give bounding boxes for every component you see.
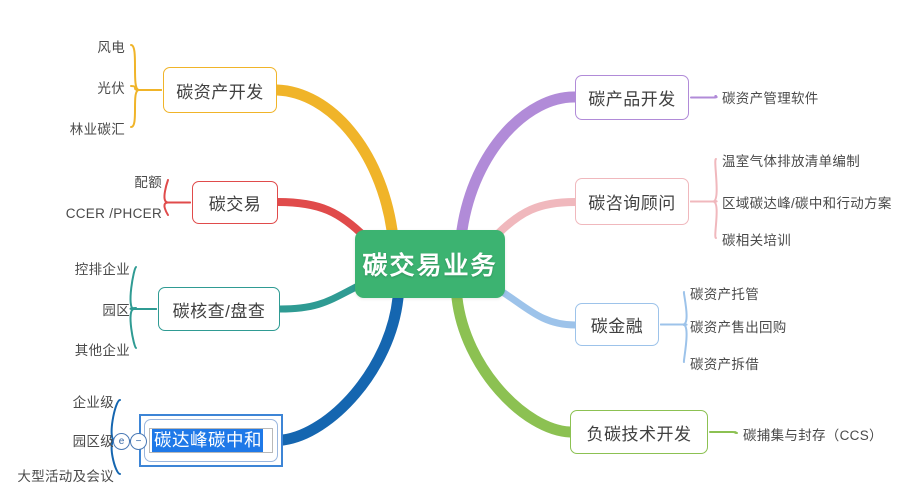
link-carbon-finance-leaf-0 bbox=[661, 292, 687, 325]
branch-node-carbon-product-development[interactable]: 碳产品开发 bbox=[575, 75, 689, 120]
node-title-input[interactable]: 碳达峰碳中和 bbox=[149, 428, 273, 453]
leaf-node[interactable]: 配额 bbox=[0, 171, 162, 191]
branch-node-label: 碳资产开发 bbox=[176, 78, 264, 103]
link-carbon-finance-leaf-2 bbox=[661, 325, 687, 363]
leaf-node[interactable]: 碳资产拆借 bbox=[690, 353, 759, 373]
link-root-to-carbon-peak-neutrality bbox=[283, 298, 398, 440]
leaf-node[interactable]: 企业级 bbox=[0, 391, 114, 411]
branch-node-label: 碳核查/盘查 bbox=[173, 297, 266, 322]
leaf-node[interactable]: 区域碳达峰/碳中和行动方案 bbox=[722, 192, 892, 212]
link-carbon-finance-leaf-1 bbox=[661, 325, 687, 326]
leaf-node[interactable]: 碳资产管理软件 bbox=[722, 87, 819, 107]
branch-node-label: 碳交易 bbox=[209, 190, 262, 215]
leaf-node[interactable]: 温室气体排放清单编制 bbox=[722, 150, 860, 170]
link-root-to-negative-carbon-tech bbox=[457, 298, 570, 432]
leaf-node[interactable]: 光伏 bbox=[0, 77, 125, 97]
leaf-node[interactable]: 其他企业 bbox=[0, 339, 130, 359]
link-carbon-asset-development-leaf-0 bbox=[131, 45, 161, 90]
link-carbon-trading-leaf-0 bbox=[164, 180, 190, 203]
link-carbon-trading-leaf-1 bbox=[164, 203, 190, 216]
leaf-node[interactable]: 大型活动及会议 bbox=[0, 465, 114, 485]
link-root-to-carbon-finance bbox=[496, 288, 575, 325]
link-carbon-product-development-leaf-0 bbox=[691, 96, 717, 98]
mindmap-canvas: 碳交易业务 碳资产开发风电光伏林业碳汇碳交易配额CCER /PHCER碳核查/盘… bbox=[0, 0, 900, 489]
leaf-node[interactable]: 园区 bbox=[0, 299, 130, 319]
link-carbon-consulting-leaf-0 bbox=[691, 159, 717, 202]
branch-node-carbon-verification[interactable]: 碳核查/盘查 bbox=[158, 287, 280, 331]
link-carbon-consulting-leaf-1 bbox=[691, 201, 717, 202]
branch-node-label: 碳金融 bbox=[591, 312, 644, 337]
branch-node-carbon-peak-neutrality-editing[interactable]: 碳达峰碳中和 bbox=[139, 414, 283, 467]
branch-node-negative-carbon-tech[interactable]: 负碳技术开发 bbox=[570, 410, 708, 454]
leaf-node[interactable]: 碳资产售出回购 bbox=[690, 316, 787, 336]
branch-node-box: 碳达峰碳中和 bbox=[144, 419, 278, 462]
leaf-node[interactable]: 控排企业 bbox=[0, 258, 130, 278]
link-carbon-asset-development-leaf-2 bbox=[131, 90, 161, 127]
link-carbon-verification-leaf-0 bbox=[131, 267, 156, 309]
root-node-label: 碳交易业务 bbox=[362, 246, 497, 282]
branch-node-carbon-finance[interactable]: 碳金融 bbox=[575, 303, 659, 346]
branch-node-label: 碳产品开发 bbox=[588, 85, 676, 110]
branch-node-label: 碳咨询顾问 bbox=[588, 189, 676, 214]
leaf-node[interactable]: 林业碳汇 bbox=[0, 118, 125, 138]
link-carbon-asset-development-leaf-1 bbox=[131, 86, 161, 90]
link-root-to-carbon-verification bbox=[280, 285, 360, 309]
leaf-node[interactable]: 风电 bbox=[0, 36, 125, 56]
link-root-to-carbon-consulting bbox=[492, 202, 575, 240]
link-root-to-carbon-product-development bbox=[462, 97, 575, 230]
link-carbon-verification-leaf-2 bbox=[131, 309, 156, 348]
leaf-node[interactable]: CCER /PHCER bbox=[0, 206, 162, 221]
branch-node-carbon-asset-development[interactable]: 碳资产开发 bbox=[163, 67, 277, 113]
link-root-to-carbon-trading bbox=[278, 202, 366, 238]
leaf-node[interactable]: 碳资产托管 bbox=[690, 283, 759, 303]
branch-node-carbon-consulting[interactable]: 碳咨询顾问 bbox=[575, 178, 689, 225]
branch-node-carbon-trading[interactable]: 碳交易 bbox=[192, 181, 278, 224]
link-carbon-consulting-leaf-2 bbox=[691, 202, 717, 239]
note-icon[interactable]: e bbox=[113, 433, 130, 450]
node-title-selected-text: 碳达峰碳中和 bbox=[152, 429, 263, 452]
link-carbon-verification-leaf-1 bbox=[131, 308, 156, 309]
collapse-icon[interactable]: − bbox=[130, 433, 147, 450]
link-negative-carbon-tech-leaf-0 bbox=[710, 432, 737, 433]
root-node[interactable]: 碳交易业务 bbox=[355, 230, 505, 298]
branch-node-label: 负碳技术开发 bbox=[587, 420, 692, 445]
leaf-node[interactable]: 碳相关培训 bbox=[722, 229, 791, 249]
leaf-node[interactable]: 碳捕集与封存（CCS） bbox=[743, 424, 883, 444]
link-root-to-carbon-asset-development bbox=[277, 90, 392, 230]
leaf-node[interactable]: 园区级 bbox=[0, 430, 114, 450]
